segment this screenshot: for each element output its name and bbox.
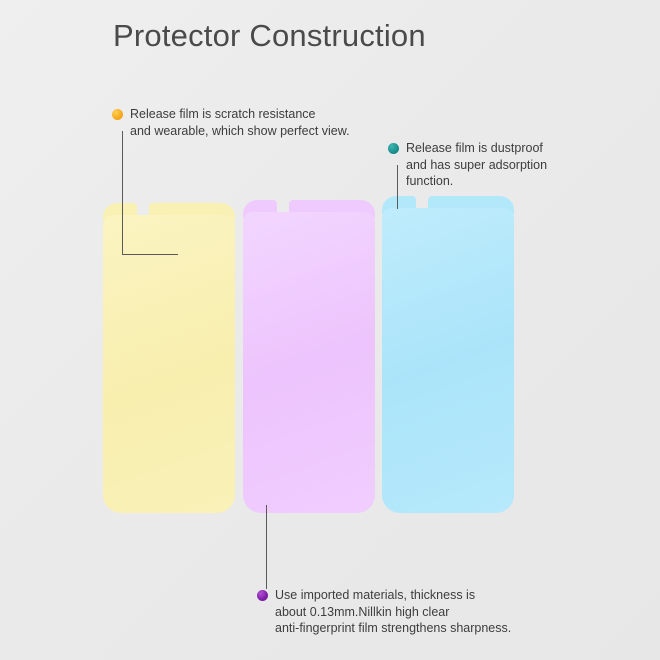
protector-sheet-blue [382,196,514,513]
page-title: Protector Construction [113,18,426,54]
leader-line-scratch-resistance-horizontal [122,254,178,255]
sheet-body [243,212,375,513]
leader-line-scratch-resistance-vertical [122,131,123,255]
callout-text: Release film is dustproof and has super … [406,140,547,190]
bullet-marker-icon [257,590,268,601]
callout-imported-materials: Use imported materials, thickness is abo… [257,587,511,637]
callout-text: Use imported materials, thickness is abo… [275,587,511,637]
diagram-canvas: Protector Construction Release film is s… [0,0,660,660]
sheet-body [382,208,514,513]
bullet-marker-icon [388,143,399,154]
callout-scratch-resistance: Release film is scratch resistance and w… [112,106,350,139]
callout-text: Release film is scratch resistance and w… [130,106,350,139]
callout-dustproof: Release film is dustproof and has super … [388,140,547,190]
bullet-marker-icon [112,109,123,120]
leader-line-imported-materials-vertical [266,505,267,589]
protector-sheet-pink [243,200,375,513]
sheet-body [103,215,235,513]
